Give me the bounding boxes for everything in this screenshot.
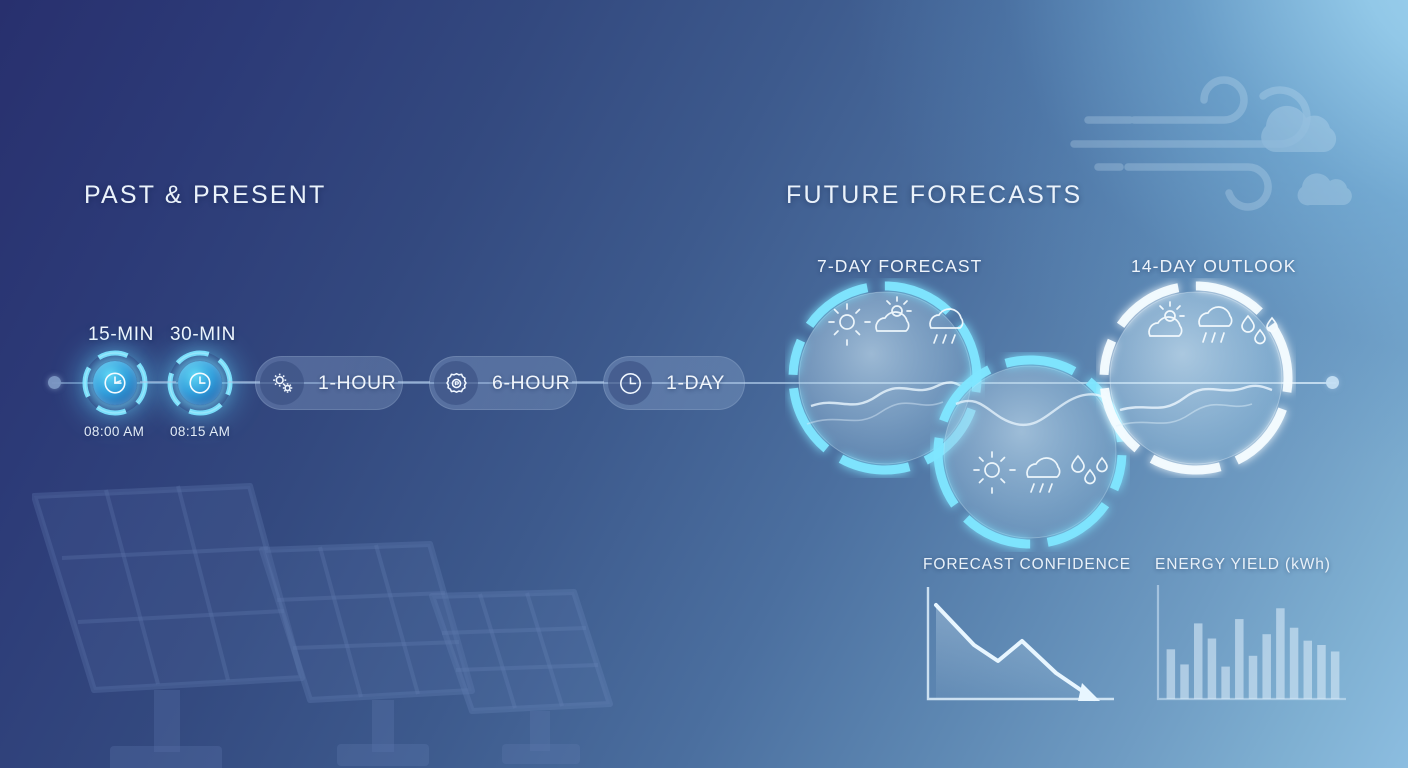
timeline-start-cap bbox=[48, 376, 61, 389]
clock-icon bbox=[102, 370, 128, 396]
forecast-bubble-14day[interactable] bbox=[1096, 278, 1296, 478]
timeline-connector bbox=[140, 381, 176, 383]
pill-label-6hour: 6-HOUR bbox=[478, 372, 586, 395]
chart-bar bbox=[1221, 667, 1229, 699]
forecast-label-14day: 14-DAY OUTLOOK bbox=[1131, 256, 1297, 277]
section-title-past: PAST & PRESENT bbox=[84, 181, 326, 210]
timeline-end-cap bbox=[1326, 376, 1339, 389]
timeline-pill-6hour[interactable]: 6-HOUR bbox=[429, 356, 577, 410]
node-time-15min: 08:00 AM bbox=[84, 424, 144, 439]
chart-area-fill bbox=[936, 605, 1096, 701]
chart-bar bbox=[1208, 639, 1216, 699]
chart-bar bbox=[1304, 641, 1312, 699]
timeline-node-30min[interactable] bbox=[169, 352, 231, 414]
node-label-15min: 15-MIN bbox=[88, 324, 154, 346]
node-time-30min: 08:15 AM bbox=[170, 424, 230, 439]
chart-bar bbox=[1262, 634, 1270, 699]
clock-icon bbox=[608, 361, 652, 405]
gear-settings-icon bbox=[434, 361, 478, 405]
timeline-pill-1hour[interactable]: 1-HOUR bbox=[255, 356, 403, 410]
chart-bar bbox=[1194, 623, 1202, 699]
chart-title-energy-yield: ENERGY YIELD (kWh) bbox=[1155, 556, 1331, 574]
timeline-node-15min[interactable] bbox=[84, 352, 146, 414]
infographic-canvas: PAST & PRESENT FUTURE FORECASTS 15-MIN 0… bbox=[0, 0, 1408, 768]
chart-bar bbox=[1331, 651, 1339, 699]
chart-bar bbox=[1167, 649, 1175, 699]
pill-label-1day: 1-DAY bbox=[652, 372, 741, 395]
chart-bar bbox=[1180, 664, 1188, 699]
chart-title-forecast-confidence: FORECAST CONFIDENCE bbox=[923, 556, 1131, 574]
gears-icon bbox=[260, 361, 304, 405]
section-title-future: FUTURE FORECASTS bbox=[786, 181, 1082, 210]
node-label-30min: 30-MIN bbox=[170, 324, 236, 346]
solar-panel-array-icon bbox=[32, 478, 692, 768]
node-core bbox=[93, 361, 137, 405]
chart-bar bbox=[1249, 656, 1257, 699]
chart-bar bbox=[1276, 608, 1284, 699]
chart-trend-arrow bbox=[1078, 683, 1100, 701]
timeline-pill-1day[interactable]: 1-DAY bbox=[603, 356, 745, 410]
chart-bar bbox=[1290, 628, 1298, 699]
chart-bar bbox=[1235, 619, 1243, 699]
chart-bar bbox=[1317, 645, 1325, 699]
clock-icon bbox=[187, 370, 213, 396]
node-core bbox=[178, 361, 222, 405]
chart-forecast-confidence bbox=[918, 583, 1118, 708]
forecast-label-7day: 7-DAY FORECAST bbox=[817, 256, 982, 277]
chart-bar-series bbox=[1167, 608, 1340, 699]
wind-clouds-icon bbox=[1070, 34, 1400, 214]
pill-label-1hour: 1-HOUR bbox=[304, 372, 412, 395]
chart-energy-yield bbox=[1150, 583, 1350, 708]
